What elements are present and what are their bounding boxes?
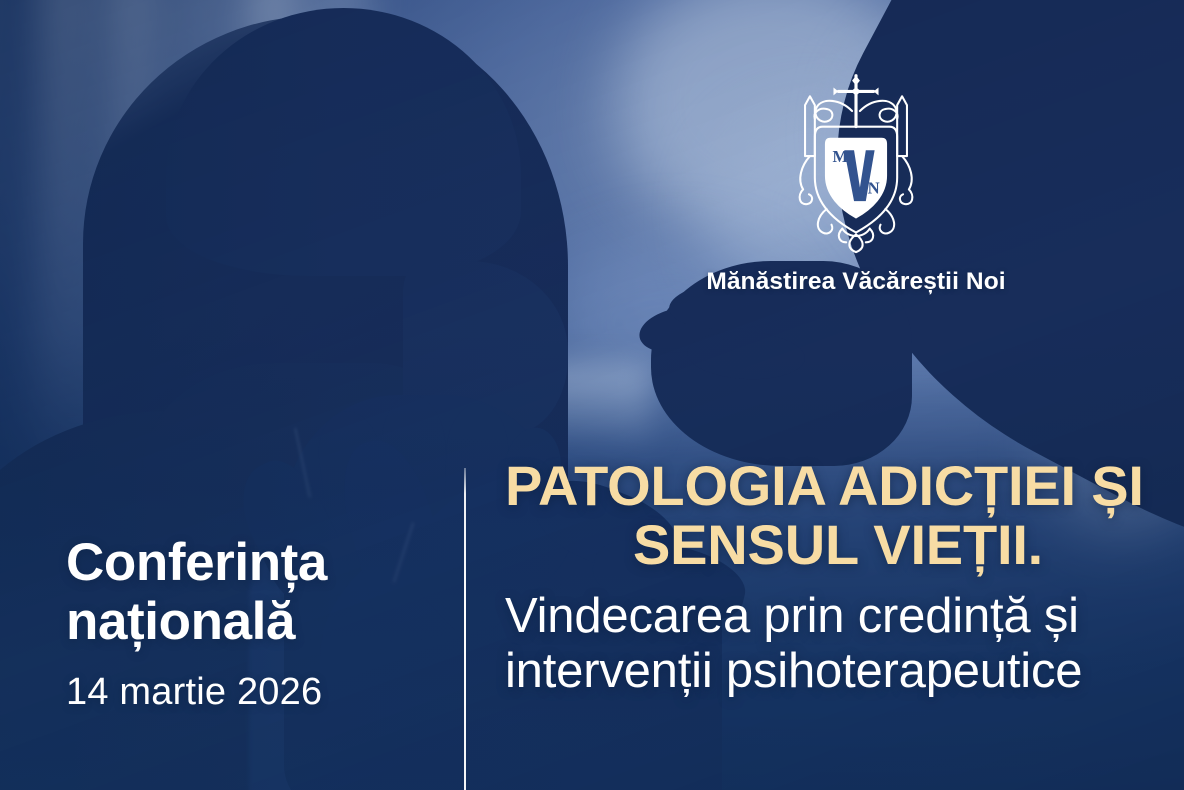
conference-title-line-2: SENSUL VIEȚII. bbox=[505, 515, 1184, 574]
conference-subtitle-line-2: intervenții psihoterapeutice bbox=[505, 644, 1184, 699]
monastery-name: Mănăstirea Văcăreștii Noi bbox=[706, 268, 1006, 296]
svg-text:N: N bbox=[868, 178, 880, 197]
conference-poster: M N Mănăstirea Văcăreștii Noi Conferința… bbox=[0, 0, 1184, 790]
event-info-block: Conferința națională 14 martie 2026 bbox=[66, 536, 446, 714]
conference-title-line-1: PATOLOGIA ADICȚIEI ȘI bbox=[505, 456, 1184, 515]
vertical-divider bbox=[464, 468, 466, 790]
monastery-crest-icon: M N bbox=[758, 62, 954, 258]
event-name-line-2: națională bbox=[66, 595, 446, 650]
conference-subtitle-line-1: Vindecarea prin credință și bbox=[505, 589, 1184, 644]
event-date: 14 martie 2026 bbox=[66, 671, 446, 714]
event-name-line-1: Conferința bbox=[66, 536, 446, 591]
monastery-logo-block: M N Mănăstirea Văcăreștii Noi bbox=[706, 62, 1006, 296]
conference-title-block: PATOLOGIA ADICȚIEI ȘI SENSUL VIEȚII. Vin… bbox=[505, 456, 1184, 699]
